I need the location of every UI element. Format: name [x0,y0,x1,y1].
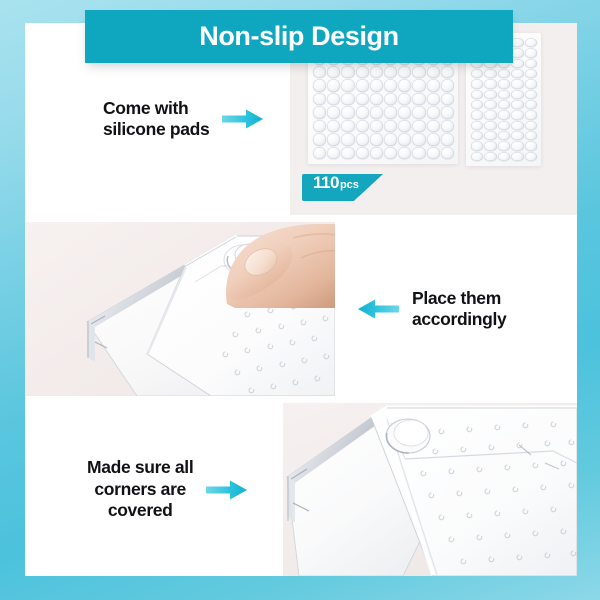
silicone-pad [471,79,483,88]
silicone-pad [484,110,496,119]
silicone-pad [398,133,411,145]
silicone-pad [471,152,483,161]
infographic-poster: Come with silicone pads [0,0,600,600]
silicone-pad [484,121,496,130]
silicone-pad [313,120,326,132]
silicone-pad [398,120,411,132]
silicone-pad [327,93,340,105]
silicone-pad [498,121,510,130]
silicone-pad [313,79,326,91]
silicone-pad [498,79,510,88]
silicone-pad [313,93,326,105]
silicone-pad [525,131,537,140]
row-divider [25,396,577,403]
silicone-pad [525,48,537,57]
silicone-pad [341,79,354,91]
silicone-pad [525,100,537,109]
silicone-pad [370,66,383,78]
silicone-pad [384,147,397,159]
silicone-pad [511,48,523,57]
silicone-pad [498,69,510,78]
caption-text: Come with silicone pads [103,98,209,141]
silicone-pad [484,90,496,99]
silicone-pad [327,79,340,91]
silicone-pad [398,66,411,78]
silicone-pad [498,152,510,161]
silicone-pad [525,38,537,47]
silicone-pad [441,147,454,159]
row-divider [25,215,577,222]
silicone-pad [441,106,454,118]
arrow-left-icon [357,298,399,320]
silicone-pad [370,147,383,159]
silicone-pad [525,141,537,150]
silicone-pad [498,90,510,99]
silicone-pad [525,152,537,161]
silicone-pad [384,120,397,132]
arrow-right-icon [206,479,248,501]
silicone-pad [384,93,397,105]
silicone-pad [525,59,537,68]
silicone-pad [498,141,510,150]
badge-number: 110 [313,174,339,191]
silicone-pad [441,79,454,91]
silicone-pad [313,133,326,145]
content-canvas: Come with silicone pads [25,23,577,576]
silicone-pad [484,152,496,161]
silicone-pad [398,93,411,105]
silicone-pad [370,120,383,132]
silicone-pad [511,110,523,119]
silicone-pad [427,133,440,145]
silicone-pad [498,110,510,119]
silicone-pad [511,69,523,78]
silicone-pad [327,120,340,132]
silicone-pad [498,131,510,140]
silicone-pad [471,131,483,140]
silicone-pad [356,133,369,145]
silicone-pad [441,120,454,132]
silicone-pad [313,66,326,78]
hand-photo [217,222,335,308]
silicone-pad [511,79,523,88]
silicone-pad [525,110,537,119]
silicone-pad [511,152,523,161]
silicone-pad [498,100,510,109]
silicone-pad [525,79,537,88]
silicone-pad [484,69,496,78]
silicone-pad [398,79,411,91]
silicone-pad [341,120,354,132]
covered-corners-tray-illustration [283,403,577,576]
silicone-pad [370,133,383,145]
silicone-pad [471,141,483,150]
silicone-pad [412,120,425,132]
silicone-pad [384,106,397,118]
silicone-pad [511,141,523,150]
silicone-pad [370,79,383,91]
silicone-pad [313,106,326,118]
silicone-pad [412,133,425,145]
silicone-pad [384,79,397,91]
silicone-pad [511,90,523,99]
silicone-pad [484,131,496,140]
arrow-right-icon [222,108,264,130]
silicone-pad [341,147,354,159]
silicone-pad [384,133,397,145]
silicone-pad [427,106,440,118]
silicone-pad [341,106,354,118]
silicone-pad [370,106,383,118]
silicone-pad [356,66,369,78]
silicone-pad [412,93,425,105]
silicone-pad [511,121,523,130]
caption-text: Place them accordingly [412,288,506,331]
silicone-pad [471,90,483,99]
silicone-pad [484,141,496,150]
row2-caption-panel: Place them accordingly [335,222,577,396]
silicone-pad [484,100,496,109]
silicone-pad [427,66,440,78]
silicone-pad [471,69,483,78]
silicone-pad [525,90,537,99]
silicone-pad [427,79,440,91]
page-title: Non-slip Design [199,23,399,50]
silicone-pad [327,147,340,159]
silicone-pad [427,93,440,105]
silicone-pad [511,131,523,140]
silicone-pad [441,66,454,78]
silicone-pad [441,93,454,105]
silicone-pad [484,79,496,88]
silicone-pad [471,100,483,109]
silicone-pad [511,38,523,47]
silicone-pad [398,147,411,159]
silicone-pad [327,106,340,118]
row-place-them-accordingly: Place them accordingly [25,222,577,396]
header-banner: Non-slip Design [85,10,513,63]
pieces-count-badge: 110 pcs [302,174,383,201]
silicone-pad [427,120,440,132]
silicone-pad [471,110,483,119]
silicone-pad [412,79,425,91]
silicone-pad [525,69,537,78]
silicone-pad [341,133,354,145]
silicone-pad [398,106,411,118]
silicone-pad [511,100,523,109]
caption-come-with-silicone-pads: Come with silicone pads [103,98,264,141]
silicone-pad [370,93,383,105]
silicone-pad [412,106,425,118]
silicone-pad [356,106,369,118]
caption-made-sure-all-corners-are-covered: Made sure all corners are covered [87,457,248,521]
silicone-pad [356,120,369,132]
silicone-pad [511,59,523,68]
silicone-pad [327,66,340,78]
silicone-pad [412,66,425,78]
silicone-pad [384,66,397,78]
silicone-pad [356,79,369,91]
row3-caption-panel: Made sure all corners are covered [25,403,283,576]
silicone-pad [441,133,454,145]
silicone-pad [412,147,425,159]
silicone-pad [341,66,354,78]
row2-image-panel [25,222,335,396]
row3-image-panel [283,403,577,576]
silicone-pad [356,147,369,159]
silicone-pad [327,133,340,145]
badge-unit: pcs [340,180,359,191]
caption-text: Made sure all corners are covered [87,457,193,521]
silicone-pad [471,121,483,130]
silicone-pad [313,147,326,159]
silicone-pad [356,93,369,105]
caption-place-them-accordingly: Place them accordingly [357,288,506,331]
silicone-pad [341,93,354,105]
row-made-sure-all-corners-are-covered: Made sure all corners are covered [25,403,577,576]
silicone-pad [427,147,440,159]
silicone-pad [525,121,537,130]
